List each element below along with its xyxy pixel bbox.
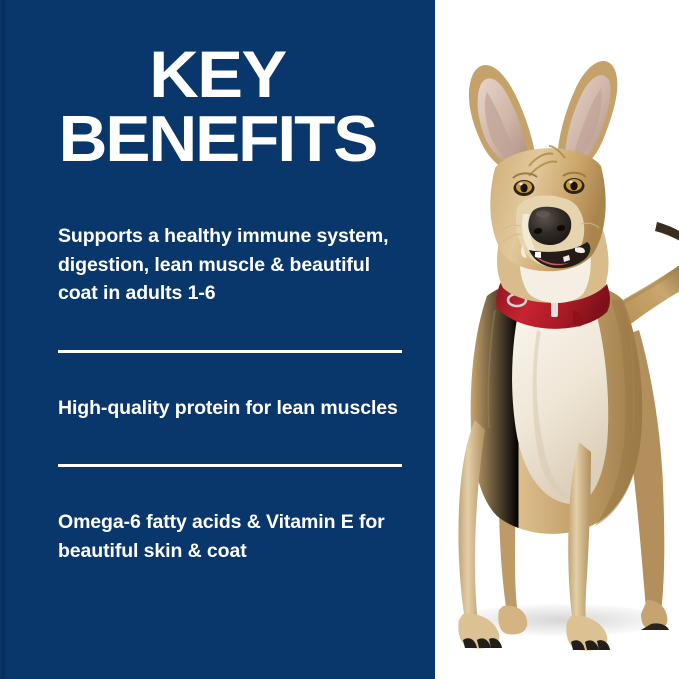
spacer-3: [58, 422, 406, 464]
benefit-item-3: Omega-6 fatty acids & Vitamin E for beau…: [58, 508, 406, 565]
spacer-1: [58, 308, 406, 350]
benefit-item-1: Supports a healthy immune system, digest…: [58, 222, 406, 308]
benefits-panel: KEY BENEFITS Supports a healthy immune s…: [0, 0, 435, 679]
page-title: KEY BENEFITS: [0, 42, 444, 170]
dog-illustration: [435, 0, 679, 679]
page-title-line-2: BENEFITS: [0, 107, 444, 171]
benefit-item-2: High-quality protein for lean muscles: [58, 394, 406, 423]
page-title-line-1: KEY: [0, 42, 444, 107]
dog-photo: [435, 0, 679, 679]
dog-head: [490, 146, 605, 271]
spacer-4: [58, 467, 406, 508]
spacer-2: [58, 353, 406, 394]
key-benefits-card: KEY BENEFITS Supports a healthy immune s…: [0, 0, 679, 679]
dog-tail: [621, 222, 679, 324]
dog-nose: [528, 207, 571, 245]
benefits-list: Supports a healthy immune system, digest…: [58, 222, 406, 565]
